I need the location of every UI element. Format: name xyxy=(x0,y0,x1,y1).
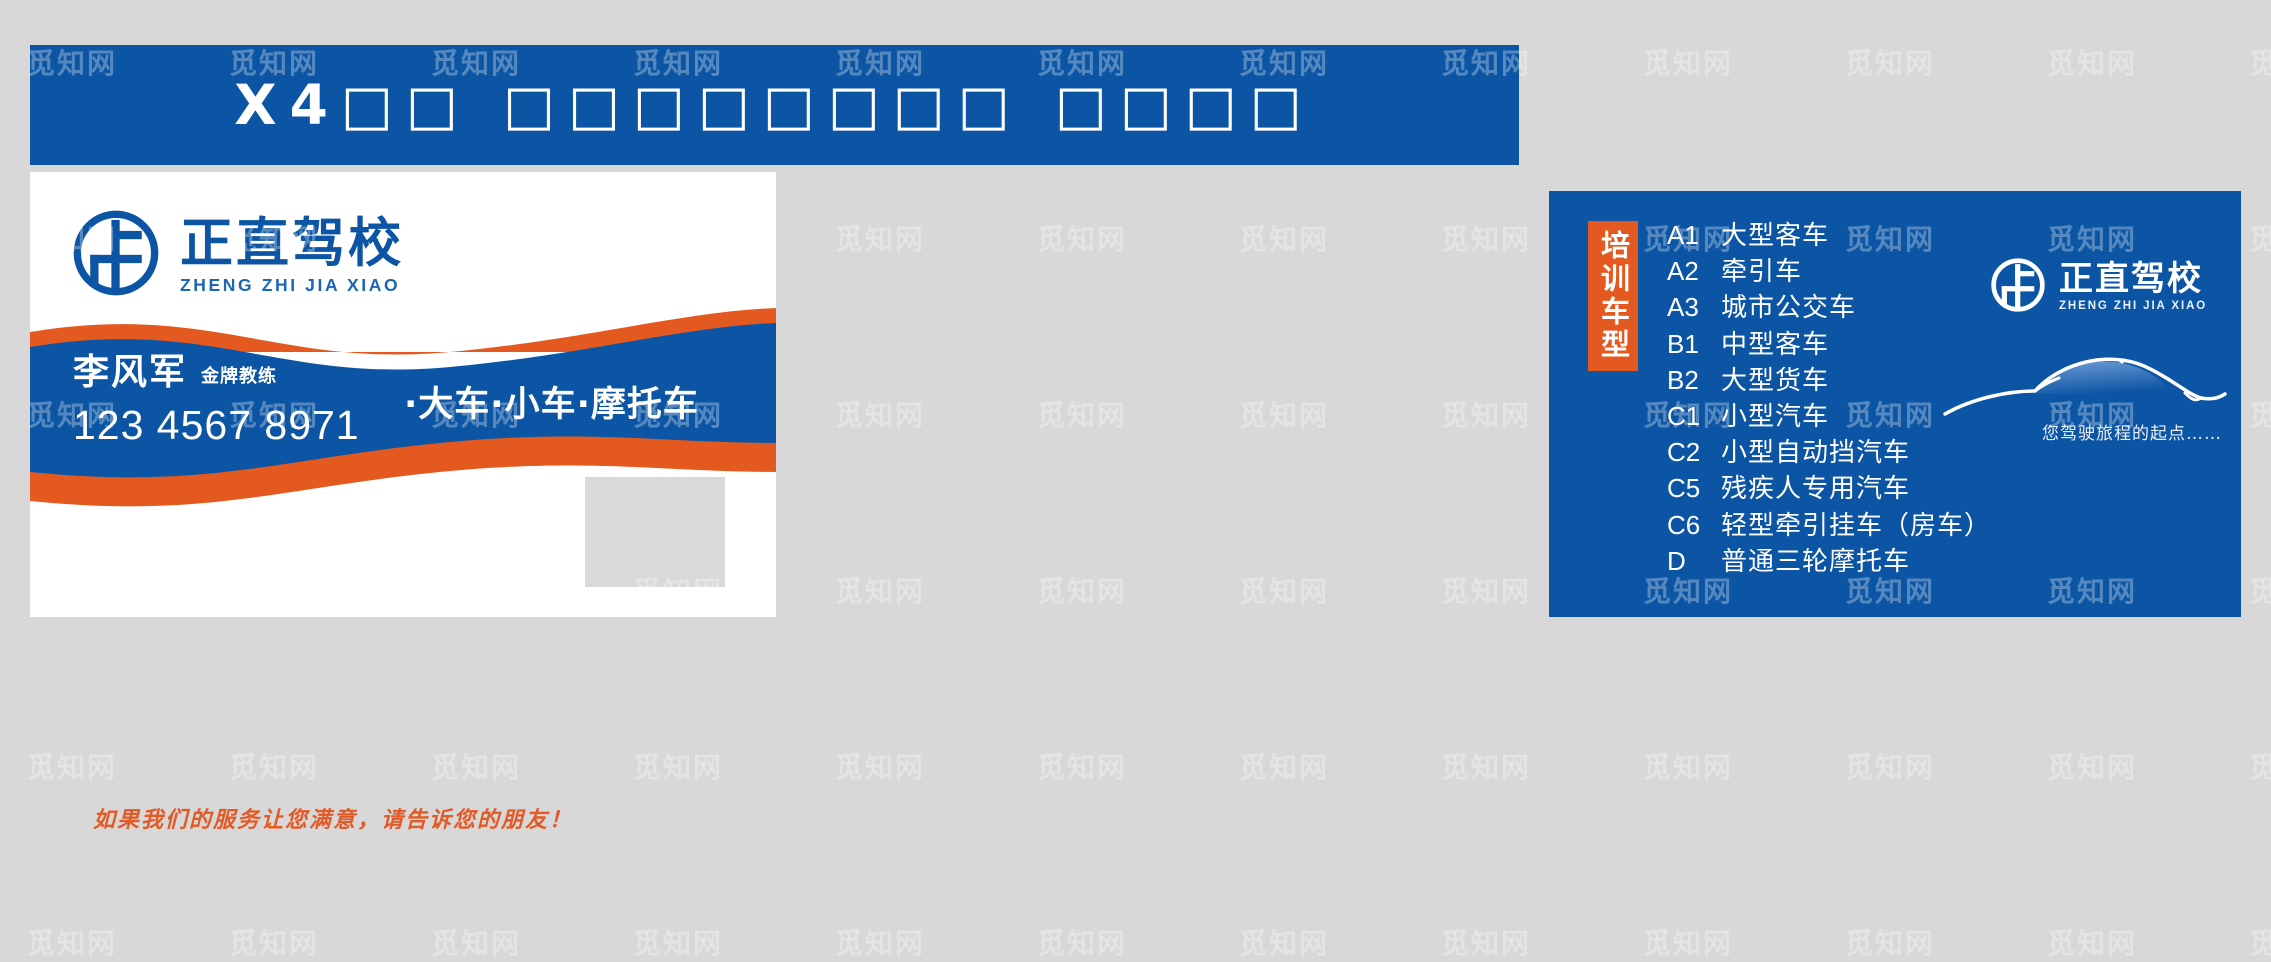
license-code: D xyxy=(1667,546,1721,577)
watermark-text: 觅知网 xyxy=(835,570,925,610)
watermark-text: 觅知网 xyxy=(2249,218,2271,258)
driving-tagline: 您驾驶旅程的起点…… xyxy=(2042,419,2222,444)
watermark-text: 觅知网 xyxy=(229,746,319,786)
watermark-text: 觅知网 xyxy=(633,922,723,962)
watermark-text: 觅知网 xyxy=(1441,922,1531,962)
license-name: 小型自动挡汽车 xyxy=(1721,432,1910,469)
brand-logo-inverse: 正直驾校 ZHENG ZHI JIA XIAO xyxy=(1989,256,2207,319)
watermark-text: 觅知网 xyxy=(835,394,925,434)
license-name: 牵引车 xyxy=(1721,251,1802,288)
watermark-text: 觅知网 xyxy=(2047,746,2137,786)
list-item: C6 轻型牵引挂车（房车） xyxy=(1667,505,1991,541)
watermark-text: 觅知网 xyxy=(1239,218,1329,258)
watermark-text: 觅知网 xyxy=(1037,746,1127,786)
brand-name-cn: 正直驾校 xyxy=(180,217,404,270)
circle-monogram-icon xyxy=(70,207,162,304)
watermark-text: 觅知网 xyxy=(1239,922,1329,962)
brand-name-en: ZHENG ZHI JIA XIAO xyxy=(2059,301,2207,313)
top-banner: X4□□ □□□□□□□□ □□□□ xyxy=(30,45,1519,165)
banner-title: X4□□ □□□□□□□□ □□□□ xyxy=(30,45,1519,165)
watermark-text: 觅知网 xyxy=(27,746,117,786)
brand-logo: 正直驾校 ZHENG ZHI JIA XIAO xyxy=(70,207,404,304)
watermark-text: 觅知网 xyxy=(2249,922,2271,962)
watermark-text: 觅知网 xyxy=(1643,746,1733,786)
watermark-text: 觅知网 xyxy=(1845,922,1935,962)
instructor-role: 金牌教练 xyxy=(201,362,277,391)
watermark-text: 觅知网 xyxy=(1037,218,1127,258)
license-code: A1 xyxy=(1667,220,1721,251)
brand-name-cn: 正直驾校 xyxy=(2059,262,2207,296)
list-item: B2 大型货车 xyxy=(1667,360,1991,396)
watermark-text: 觅知网 xyxy=(2249,42,2271,82)
license-code: B2 xyxy=(1667,365,1721,396)
watermark-text: 觅知网 xyxy=(1643,42,1733,82)
list-item: C1 小型汽车 xyxy=(1667,396,1991,432)
training-types-badge-label: 培训车型 xyxy=(1599,230,1628,362)
watermark-text: 觅知网 xyxy=(1239,746,1329,786)
watermark-text: 觅知网 xyxy=(2249,570,2271,610)
brand-name-en: ZHENG ZHI JIA XIAO xyxy=(180,277,404,295)
vehicle-kinds-label: ·大车·小车·摩托车 xyxy=(404,376,699,427)
watermark-text: 觅知网 xyxy=(431,922,521,962)
license-code: A2 xyxy=(1667,256,1721,287)
watermark-text: 觅知网 xyxy=(1037,922,1127,962)
watermark-text: 觅知网 xyxy=(2249,394,2271,434)
license-code: C1 xyxy=(1667,401,1721,432)
list-item: C5 残疾人专用汽车 xyxy=(1667,468,1991,504)
business-card-front: 正直驾校 ZHENG ZHI JIA XIAO 李风军 金牌教练 123 456… xyxy=(30,172,776,617)
license-code: C6 xyxy=(1667,510,1721,541)
license-code: C2 xyxy=(1667,437,1721,468)
watermark-text: 觅知网 xyxy=(1239,570,1329,610)
watermark-text: 觅知网 xyxy=(1037,394,1127,434)
watermark-text: 觅知网 xyxy=(431,746,521,786)
license-name: 大型货车 xyxy=(1721,360,1829,397)
watermark-text: 觅知网 xyxy=(1037,570,1127,610)
watermark-text: 觅知网 xyxy=(229,922,319,962)
list-item: D 普通三轮摩托车 xyxy=(1667,541,1991,577)
watermark-text: 觅知网 xyxy=(835,746,925,786)
watermark-text: 觅知网 xyxy=(1643,922,1733,962)
business-card-back: 培训车型 A1 大型客车 A2 牵引车 A3 城市公交车 B1 中型客车 B2 … xyxy=(1549,191,2241,617)
watermark-text: 觅知网 xyxy=(1441,218,1531,258)
instructor-info: 李风军 金牌教练 123 4567 8971 xyxy=(73,355,360,446)
license-code: B1 xyxy=(1667,329,1721,360)
qr-code-placeholder xyxy=(585,477,725,587)
license-name: 普通三轮摩托车 xyxy=(1721,541,1910,578)
circle-monogram-icon xyxy=(1989,256,2047,319)
list-item: A3 城市公交车 xyxy=(1667,287,1991,323)
watermark-text: 觅知网 xyxy=(1239,394,1329,434)
license-type-list: A1 大型客车 A2 牵引车 A3 城市公交车 B1 中型客车 B2 大型货车 … xyxy=(1667,215,1991,577)
license-name: 残疾人专用汽车 xyxy=(1721,468,1910,505)
watermark-text: 觅知网 xyxy=(2047,922,2137,962)
list-item: B1 中型客车 xyxy=(1667,324,1991,360)
list-item: A1 大型客车 xyxy=(1667,215,1991,251)
watermark-text: 觅知网 xyxy=(633,746,723,786)
training-types-badge: 培训车型 xyxy=(1588,221,1638,371)
instructor-name: 李风军 xyxy=(73,355,187,391)
instructor-phone[interactable]: 123 4567 8971 xyxy=(73,405,360,446)
watermark-text: 觅知网 xyxy=(2047,42,2137,82)
watermark-text: 觅知网 xyxy=(2249,746,2271,786)
list-item: C2 小型自动挡汽车 xyxy=(1667,432,1991,468)
watermark-text: 觅知网 xyxy=(1845,42,1935,82)
watermark-text: 觅知网 xyxy=(27,922,117,962)
license-name: 轻型牵引挂车（房车） xyxy=(1721,505,1991,542)
license-code: C5 xyxy=(1667,473,1721,504)
watermark-text: 觅知网 xyxy=(1441,570,1531,610)
license-name: 中型客车 xyxy=(1721,324,1829,361)
watermark-text: 觅知网 xyxy=(835,218,925,258)
watermark-text: 觅知网 xyxy=(1441,394,1531,434)
watermark-text: 觅知网 xyxy=(1441,746,1531,786)
license-name: 城市公交车 xyxy=(1721,287,1856,324)
list-item: A2 牵引车 xyxy=(1667,251,1991,287)
license-code: A3 xyxy=(1667,292,1721,323)
service-slogan: 如果我们的服务让您满意，请告诉您的朋友！ xyxy=(93,802,573,834)
license-name: 小型汽车 xyxy=(1721,396,1829,433)
watermark-text: 觅知网 xyxy=(1845,746,1935,786)
license-name: 大型客车 xyxy=(1721,215,1829,252)
watermark-text: 觅知网 xyxy=(835,922,925,962)
